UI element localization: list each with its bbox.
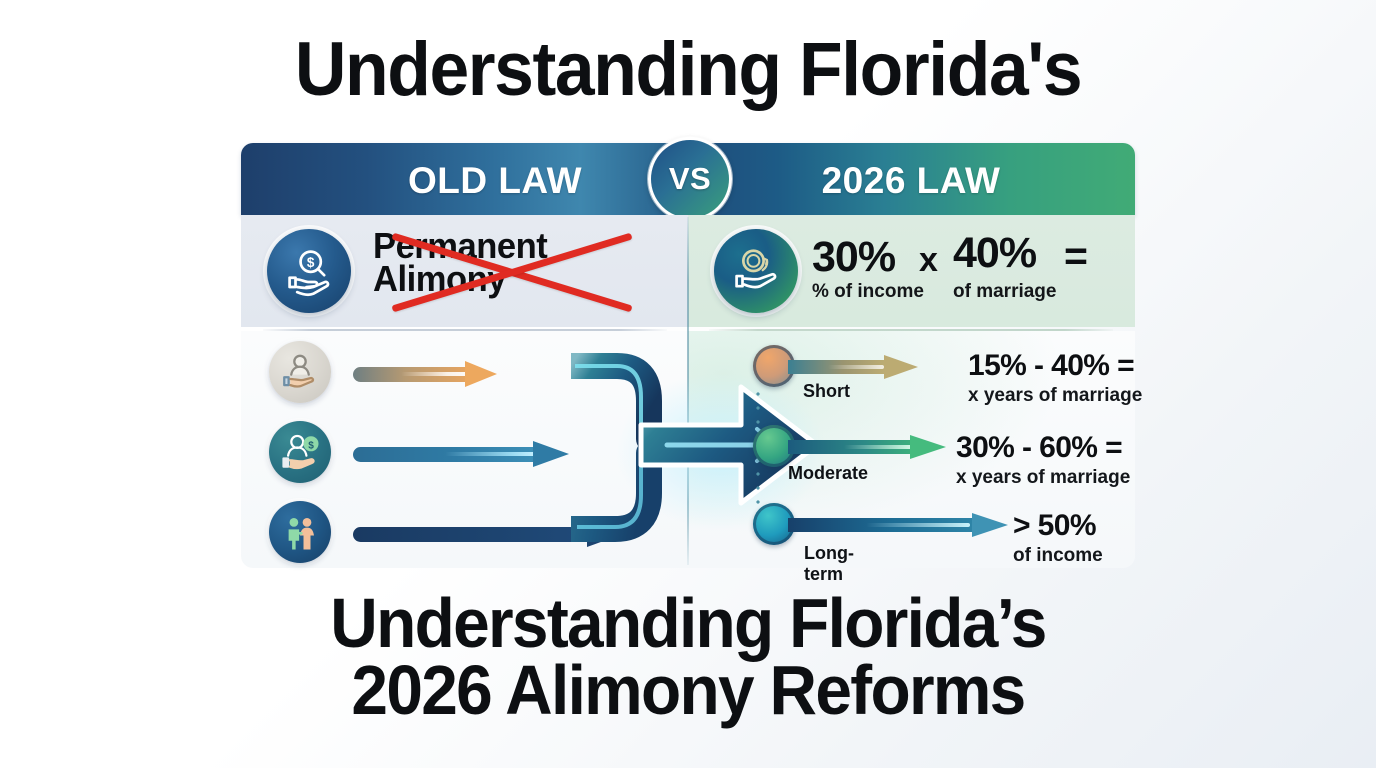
new-law-arrow-short: [788, 355, 920, 379]
arrow-highlight: [866, 523, 970, 527]
value-main: 30% - 60% =: [956, 431, 1130, 465]
duration-value-moderate: 30% - 60% = x years of marriage: [956, 431, 1130, 489]
svg-text:$: $: [307, 255, 315, 270]
arrow-highlight: [828, 365, 884, 369]
bottom-title-line-1: Understanding Florida’s: [41, 590, 1334, 657]
svg-text:$: $: [308, 440, 314, 451]
new-law-band: 30% x 40% = % of income of marriage: [688, 215, 1135, 327]
new-law-formula: 30% x 40% = % of income of marriage: [812, 223, 1134, 319]
formula-value-1: 30%: [812, 233, 895, 282]
arrow-highlight: [844, 445, 912, 449]
arrow-highlight: [445, 452, 537, 456]
arrow-head: [465, 361, 497, 387]
old-law-arrow-1: [353, 361, 497, 387]
permanent-alimony-text: Permanent Alimony: [373, 225, 632, 296]
value-main: > 50%: [1013, 509, 1103, 543]
arrow-head: [972, 513, 1008, 537]
person-with-money-icon: $: [269, 421, 331, 483]
couple-icon: [269, 501, 331, 563]
money-in-hand-icon: $: [267, 229, 351, 313]
card-header-bar: OLD LAW 2026 LAW VS: [241, 143, 1135, 215]
arrow-bar: [353, 527, 593, 542]
arrow-head: [884, 355, 918, 379]
arrow-head: [910, 435, 946, 459]
node-connector-1: [756, 387, 760, 427]
header-new-law-label: 2026 LAW: [741, 160, 1081, 202]
header-old-law-label: OLD LAW: [345, 160, 645, 202]
bottom-title-line-2: 2026 Alimony Reforms: [41, 657, 1334, 724]
duration-label-moderate: Moderate: [788, 463, 868, 484]
formula-value-1-sublabel: % of income: [812, 281, 924, 303]
money-growth-in-hand-icon: [714, 229, 798, 313]
new-law-arrow-moderate: [788, 435, 948, 459]
old-law-arrow-2: [353, 441, 569, 467]
value-sub: x years of marriage: [968, 385, 1142, 407]
formula-value-2-sublabel: of marriage: [953, 281, 1056, 303]
value-sub: of income: [1013, 545, 1103, 567]
arrow-head: [533, 441, 569, 467]
formula-value-2: 40%: [953, 229, 1036, 278]
vs-label: VS: [669, 161, 711, 197]
duration-label-short: Short: [803, 381, 850, 402]
comparison-card: OLD LAW 2026 LAW VS $ Permanent: [241, 143, 1135, 568]
formula-operator: x: [919, 241, 937, 280]
formula-equals: =: [1064, 233, 1087, 280]
arrow-highlight: [401, 372, 467, 376]
permanent-alimony-struck: Permanent Alimony: [373, 225, 643, 317]
duration-value-short: 15% - 40% = x years of marriage: [968, 349, 1142, 407]
duration-value-long-term: > 50% of income: [1013, 509, 1103, 567]
page-title-bottom: Understanding Florida’s 2026 Alimony Ref…: [41, 590, 1334, 724]
node-connector-2: [756, 467, 760, 505]
old-law-band: $ Permanent Alimony: [241, 215, 688, 327]
new-law-arrow-long-term: [788, 513, 1010, 537]
value-main: 15% - 40% =: [968, 349, 1142, 383]
value-sub: x years of marriage: [956, 467, 1130, 489]
vs-badge: VS: [648, 137, 732, 221]
duration-label-long-term: Long-term: [804, 543, 854, 585]
person-in-hand-icon: [269, 341, 331, 403]
page-title-top: Understanding Florida's: [41, 26, 1334, 113]
